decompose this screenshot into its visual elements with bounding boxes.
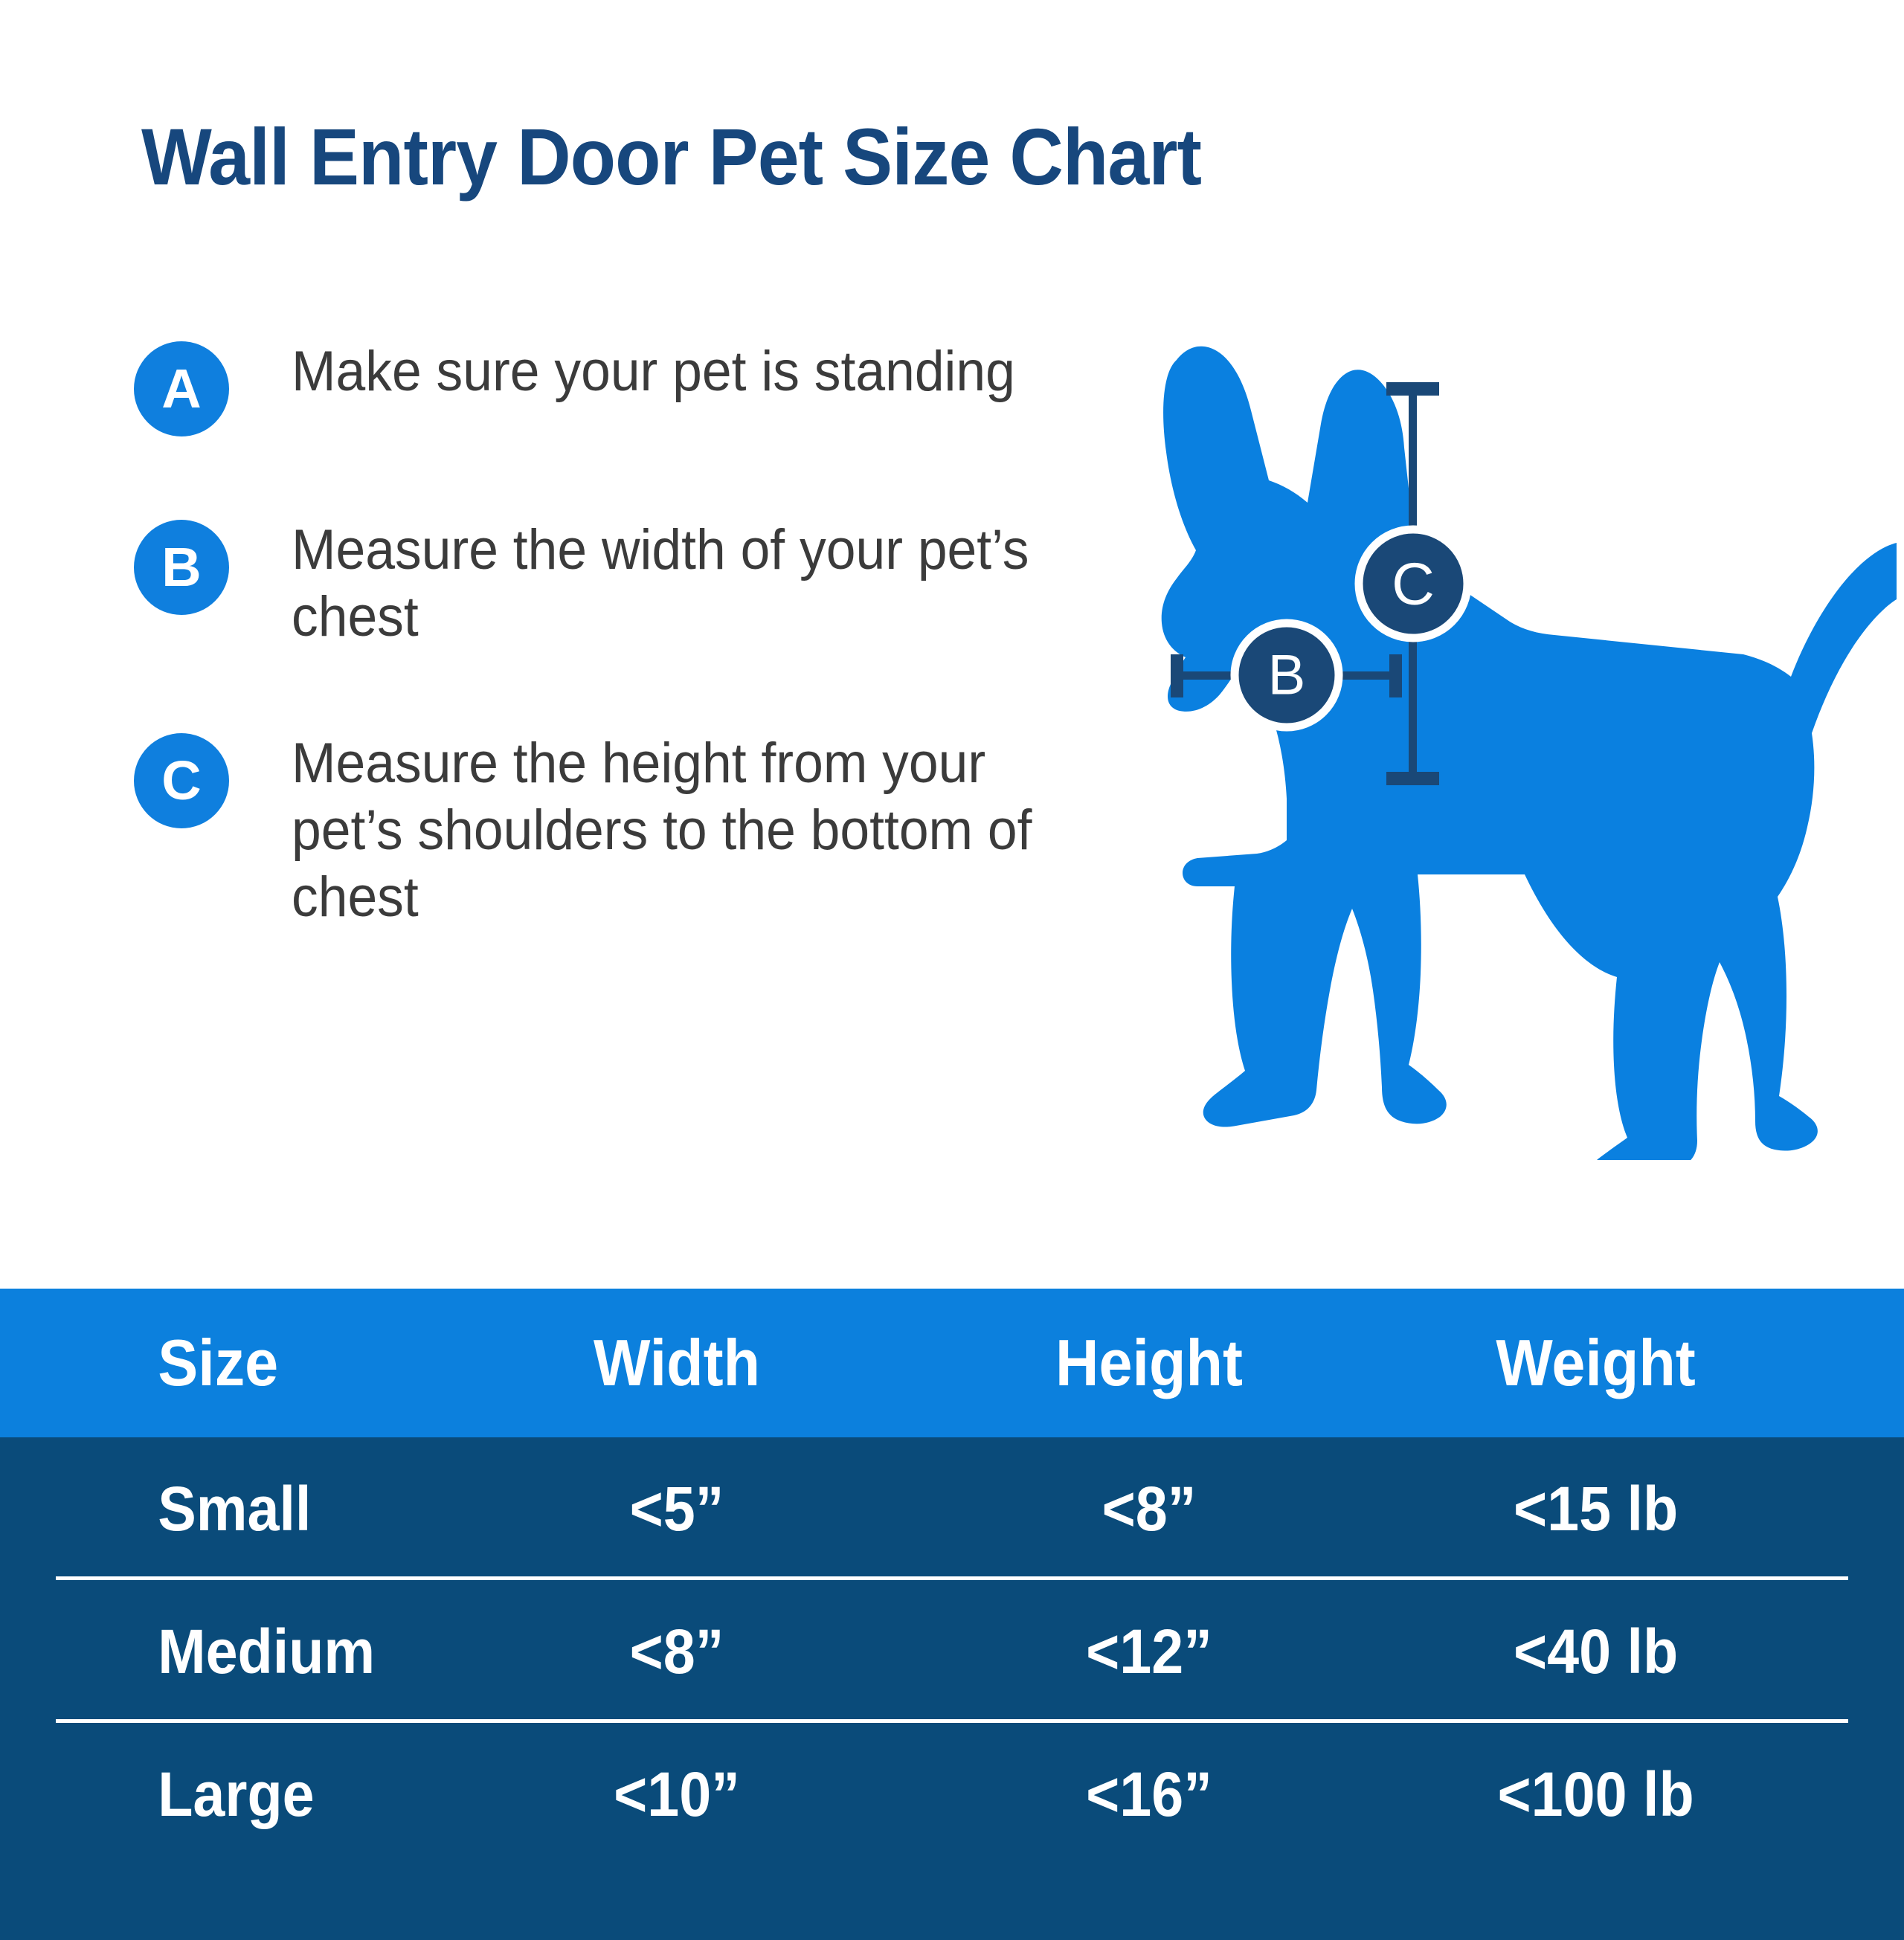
cell-width: <5” bbox=[458, 1473, 896, 1545]
table-row: Small <5” <8” <15 lb bbox=[0, 1437, 1904, 1580]
instruction-list: A Make sure your pet is standing B Measu… bbox=[134, 338, 1138, 1011]
dog-illustration: B C bbox=[1108, 327, 1897, 1160]
page-title: Wall Entry Door Pet Size Chart bbox=[141, 110, 1201, 203]
column-header-width: Width bbox=[458, 1325, 896, 1401]
instruction-text-b: Measure the width of your pet’s chest bbox=[292, 517, 1087, 650]
column-header-height: Height bbox=[933, 1325, 1365, 1401]
instruction-item-b: B Measure the width of your pet’s chest bbox=[134, 517, 1138, 650]
cell-size: Large bbox=[18, 1759, 422, 1831]
cell-weight: <100 lb bbox=[1404, 1759, 1883, 1831]
height-marker-label: C bbox=[1392, 551, 1435, 617]
cell-height: <8” bbox=[933, 1473, 1365, 1545]
step-badge-b: B bbox=[134, 520, 229, 615]
cell-width: <10” bbox=[458, 1759, 896, 1831]
width-marker-label: B bbox=[1268, 644, 1306, 707]
instruction-text-c: Measure the height from your pet’s shoul… bbox=[292, 730, 1087, 930]
height-marker-badge-c: C bbox=[1359, 529, 1467, 638]
dog-silhouette-icon bbox=[1162, 347, 1897, 1160]
table-header-row: Size Width Height Weight bbox=[0, 1289, 1904, 1437]
instruction-item-a: A Make sure your pet is standing bbox=[134, 338, 1138, 436]
instruction-item-c: C Measure the height from your pet’s sho… bbox=[134, 730, 1138, 930]
cell-weight: <40 lb bbox=[1404, 1616, 1883, 1688]
cell-width: <8” bbox=[458, 1616, 896, 1688]
size-chart-table: Size Width Height Weight Small <5” <8” <… bbox=[0, 1289, 1904, 1940]
cell-weight: <15 lb bbox=[1404, 1473, 1883, 1545]
height-measure-cap-bottom bbox=[1386, 772, 1439, 785]
step-badge-c: C bbox=[134, 733, 229, 828]
step-badge-a: A bbox=[134, 341, 229, 436]
width-measure-cap-left bbox=[1171, 654, 1183, 697]
table-row: Large <10” <16” <100 lb bbox=[0, 1723, 1904, 1866]
cell-height: <16” bbox=[933, 1759, 1365, 1831]
column-header-size: Size bbox=[18, 1325, 422, 1401]
width-marker-badge-b: B bbox=[1235, 623, 1339, 727]
table-row: Medium <8” <12” <40 lb bbox=[0, 1580, 1904, 1723]
width-measure-cap-right bbox=[1389, 654, 1402, 697]
cell-size: Medium bbox=[18, 1616, 422, 1688]
column-header-weight: Weight bbox=[1404, 1325, 1883, 1401]
height-measure-cap-top bbox=[1386, 382, 1439, 396]
cell-size: Small bbox=[18, 1473, 422, 1545]
table-body: Small <5” <8” <15 lb Medium <8” <12” <40… bbox=[0, 1437, 1904, 1940]
cell-height: <12” bbox=[933, 1616, 1365, 1688]
instruction-text-a: Make sure your pet is standing bbox=[292, 338, 1015, 405]
